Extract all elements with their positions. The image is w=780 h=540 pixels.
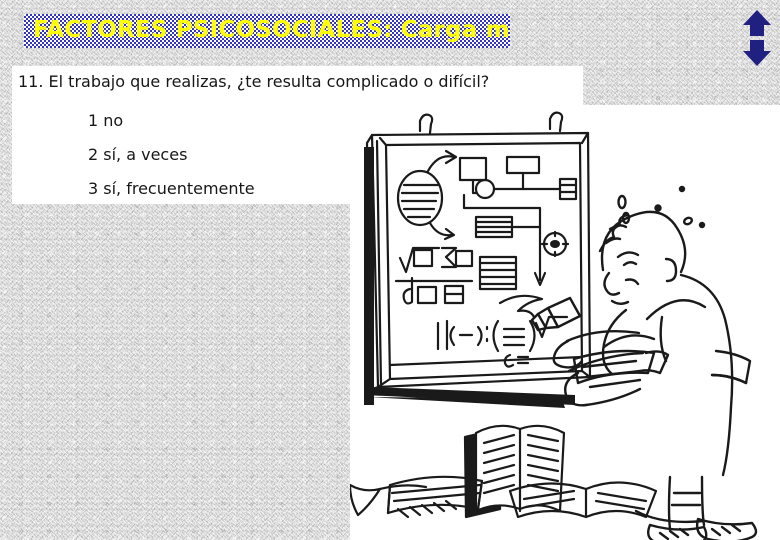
- page-title: FACTORES PSICOSOCIALES: Carga mental.: [24, 19, 510, 42]
- question-text: 11. El trabajo que realizas, ¿te resulta…: [18, 72, 489, 91]
- title-banner: FACTORES PSICOSOCIALES: Carga mental.: [24, 14, 510, 48]
- answer-option-2[interactable]: 2 sí, a veces: [88, 145, 187, 164]
- answer-option-1[interactable]: 1 no: [88, 111, 123, 130]
- question-panel: 11. El trabajo que realizas, ¿te resulta…: [12, 66, 583, 105]
- answer-option-3[interactable]: 3 sí, frecuentemente: [88, 179, 255, 198]
- navigation-arrows[interactable]: [740, 8, 774, 68]
- arrow-up-icon[interactable]: [743, 10, 771, 36]
- slide-canvas: FACTORES PSICOSOCIALES: Carga mental. 11…: [0, 0, 780, 540]
- arrow-down-icon[interactable]: [743, 40, 771, 66]
- answer-options-panel: 1 no 2 sí, a veces 3 sí, frecuentemente: [12, 105, 350, 204]
- cartoon-illustration: [350, 105, 780, 540]
